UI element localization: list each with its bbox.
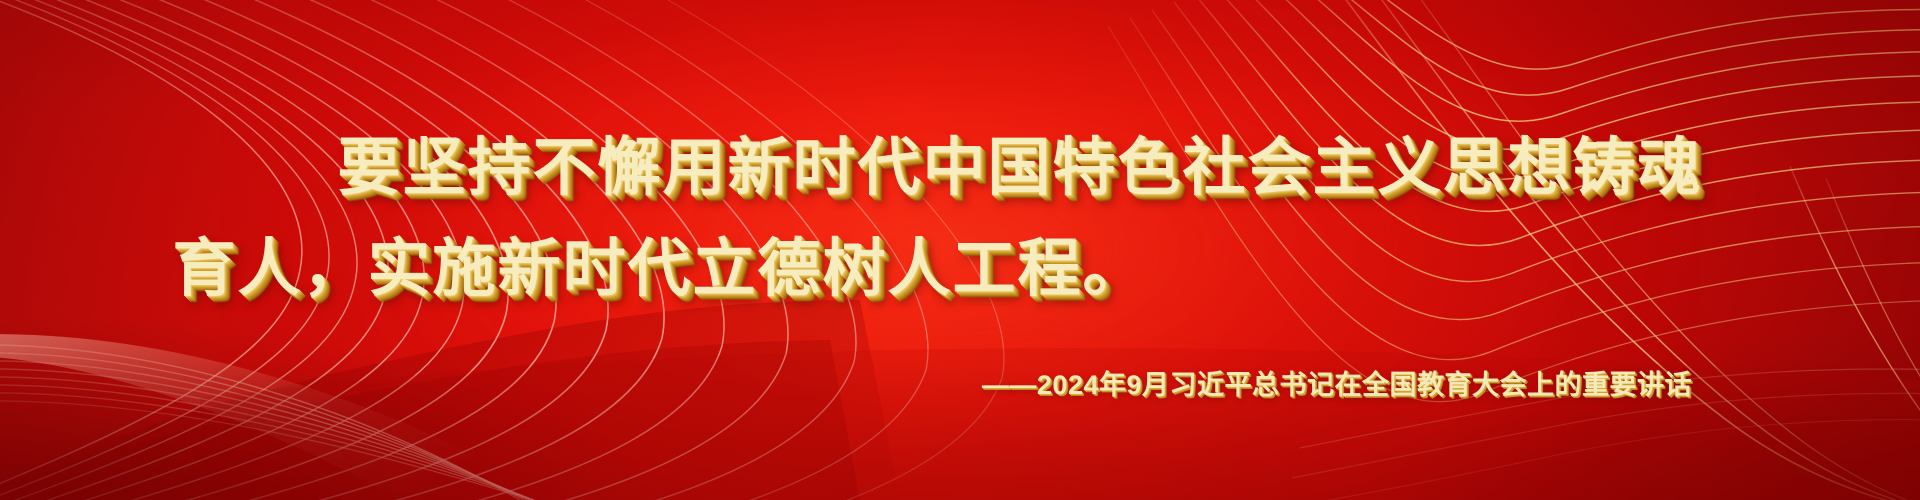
headline-block: 要坚持不懈用新时代中国特色社会主义思想铸魂 育人，实施新时代立德树人工程。 [0, 118, 1920, 320]
banner-canvas: 要坚持不懈用新时代中国特色社会主义思想铸魂 育人，实施新时代立德树人工程。 ——… [0, 0, 1920, 500]
attribution-block: ——2024年9月习近平总书记在全国教育大会上的重要讲话 [0, 363, 1920, 402]
headline-line-2: 育人，实施新时代立德树人工程。 [110, 219, 1810, 320]
banner-content: 要坚持不懈用新时代中国特色社会主义思想铸魂 育人，实施新时代立德树人工程。 ——… [0, 0, 1920, 500]
attribution-text: ——2024年9月习近平总书记在全国教育大会上的重要讲话 [982, 370, 1692, 400]
headline-line-1: 要坚持不懈用新时代中国特色社会主义思想铸魂 [110, 118, 1810, 219]
